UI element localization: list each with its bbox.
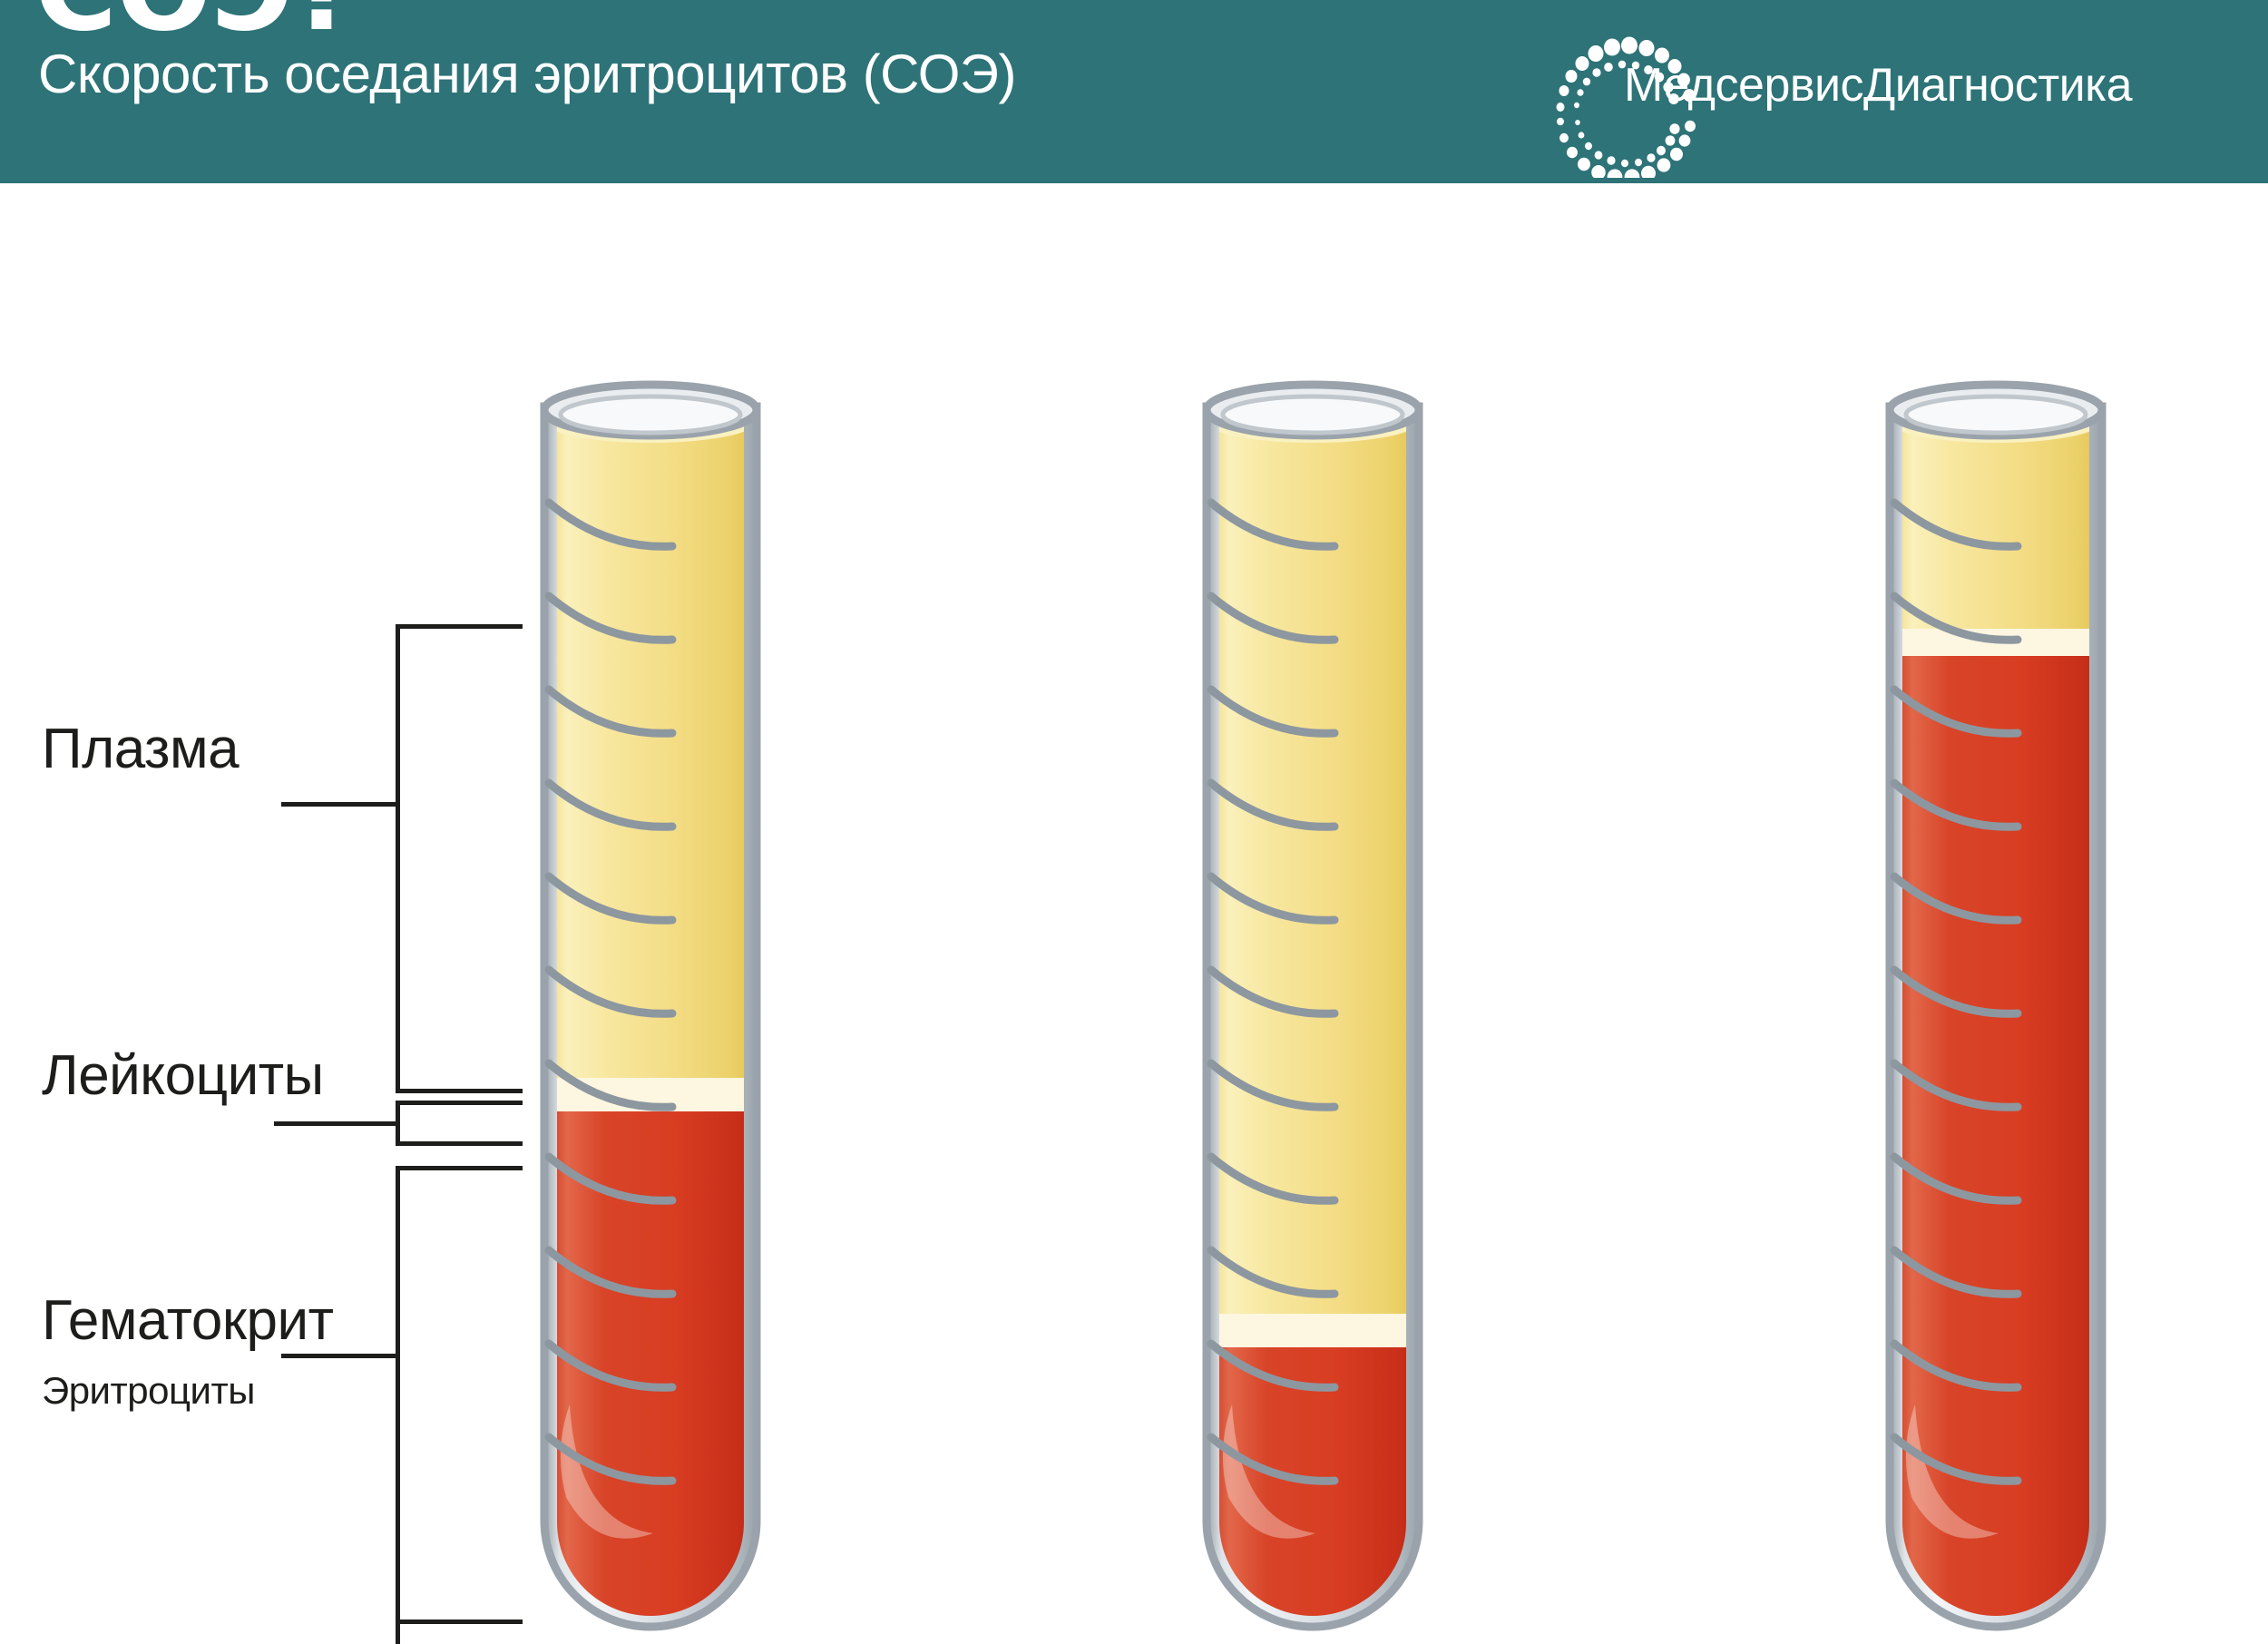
label-erythrocytes: Эритроциты [42, 1372, 255, 1410]
page-title: СОЭ? [34, 0, 357, 47]
label-leukocytes: Лейкоциты [42, 1048, 324, 1104]
bracket-hematocrit-top-tick [396, 1166, 523, 1170]
page-subtitle: Скорость оседания эритроцитов (СОЭ) [38, 47, 1016, 102]
label-hematocrit: Гематокрит [42, 1293, 333, 1349]
bracket-hematocrit-bottom-tick [396, 1620, 523, 1624]
bracket-leukocytes-leader [274, 1121, 397, 1126]
brand-logo: МедсервисДиагностика [1542, 5, 2214, 178]
bracket-plasma-spine [396, 624, 400, 1093]
label-plasma: Плазма [42, 721, 239, 778]
bracket-leukocytes-top-tick [396, 1101, 523, 1105]
test-tube-2 [1199, 370, 1426, 1636]
bracket-hematocrit-leader [281, 1354, 397, 1358]
bracket-plasma-bottom-tick [396, 1089, 523, 1093]
logo-wordmark: МедсервисДиагностика [1542, 58, 2214, 113]
bracket-hematocrit-spine [396, 1166, 400, 1644]
test-tube-3 [1882, 370, 2109, 1636]
bracket-plasma-leader [281, 802, 397, 807]
bracket-leukocytes-bottom-tick [396, 1141, 523, 1146]
test-tube-1 [537, 370, 764, 1636]
bracket-plasma-top-tick [396, 624, 523, 629]
infographic-page: СОЭ? Скорость оседания эритроцитов (СОЭ) [0, 0, 2268, 1644]
